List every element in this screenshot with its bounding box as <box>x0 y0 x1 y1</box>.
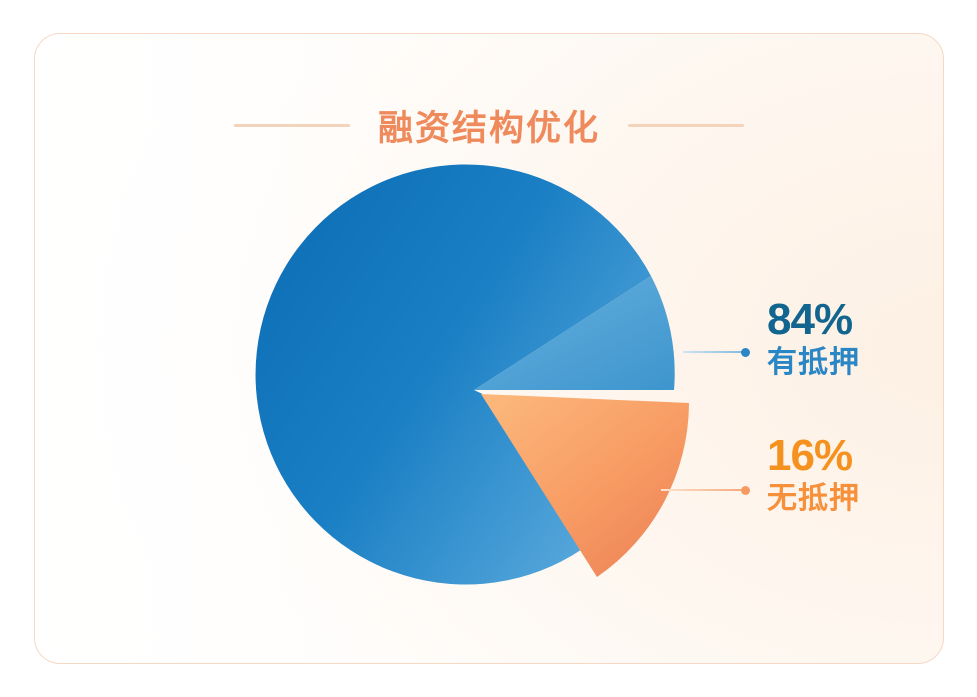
legend-item-mortgaged[interactable]: 84% 有抵押 <box>767 298 860 380</box>
leader-dot-icon <box>741 486 750 495</box>
chart-canvas: 融资结构优化 <box>0 0 977 697</box>
legend-value-mortgaged: 84% <box>767 298 860 343</box>
leader-line-mortgaged <box>683 351 746 353</box>
leader-line-stroke <box>661 489 746 491</box>
leader-line-unmortgaged <box>661 489 746 491</box>
legend-item-unmortgaged[interactable]: 16% 无抵押 <box>767 434 860 516</box>
chart-header: 融资结构优化 <box>35 96 943 154</box>
legend-label-mortgaged: 有抵押 <box>767 345 860 380</box>
leader-line-stroke <box>683 351 746 353</box>
page-title: 融资结构优化 <box>378 100 600 151</box>
legend-label-unmortgaged: 无抵押 <box>767 481 860 516</box>
leader-dot-icon <box>741 348 750 357</box>
title-rule-left-icon <box>234 124 350 127</box>
legend-value-unmortgaged: 16% <box>767 434 860 479</box>
title-rule-right-icon <box>628 124 744 127</box>
chart-card: 融资结构优化 <box>34 33 944 664</box>
